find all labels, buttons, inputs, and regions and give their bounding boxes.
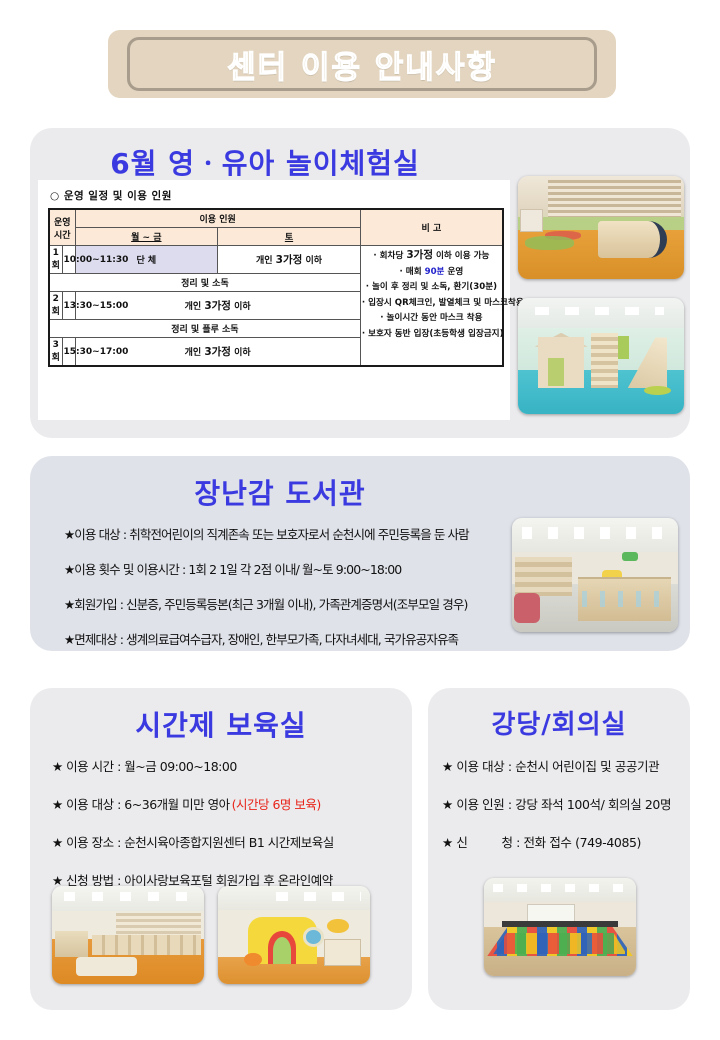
photo-region-cabinet xyxy=(55,931,88,956)
th-weekday: 월 ~ 금 xyxy=(75,228,218,246)
th-operating-time: 운영 시간 xyxy=(49,209,75,246)
photo-daycare-playhouse xyxy=(218,886,370,984)
note-post-0: 이하 이용 가능 xyxy=(433,251,489,261)
photo-content xyxy=(218,886,370,984)
session-time-1: 10:00~11:30 xyxy=(62,246,75,274)
photo-region-ceiling-lights xyxy=(64,892,192,901)
session-label-2: 2회 xyxy=(49,292,62,320)
photo-region-ceiling-lights xyxy=(276,892,361,901)
photo-region-crib xyxy=(324,939,360,966)
photo-content xyxy=(484,878,636,976)
cap-prefix-3: 개인 xyxy=(185,348,202,358)
session-label-1: 1회 xyxy=(49,246,62,274)
playroom-heading: 6월 영ㆍ유아 놀이체험실 xyxy=(30,142,500,182)
list-item-highlight: (시간당 6명 보육) xyxy=(232,794,321,813)
photo-region-wall-toy xyxy=(327,919,348,933)
photo-region-blue-porthole xyxy=(303,927,324,947)
photo-region-ceiling-lights xyxy=(522,527,665,538)
photo-region-blinds xyxy=(548,180,681,217)
photo-region-projection-screen xyxy=(527,904,576,922)
list-item-text: ★ 이용 대상 : 6~36개월 미만 영아 xyxy=(52,794,230,813)
photo-region-play-mat-green xyxy=(525,236,575,250)
session-time-3: 15:30~17:00 xyxy=(62,338,75,367)
photo-region-sign xyxy=(622,552,639,561)
list-item: ★회원가입 : 신분증, 주민등록등본(최근 3개월 이내), 가족관계증명서(… xyxy=(64,594,534,613)
photo-region-play-tunnel xyxy=(598,221,668,258)
photo-region-shelf xyxy=(520,209,543,232)
photo-toy-library-interior xyxy=(512,518,678,632)
note-pre-1: · 매회 xyxy=(400,267,425,277)
note-line: · 회차당 3가정 이하 이용 가능 xyxy=(362,248,501,265)
photo-region-rug xyxy=(76,957,137,977)
photo-region-ceiling-lights xyxy=(493,884,627,892)
hall-heading: 강당/회의실 xyxy=(428,704,690,741)
cap-em-3: 3가정 xyxy=(204,346,231,358)
th-capacity: 이용 인원 xyxy=(75,209,360,228)
photo-region-house-door xyxy=(548,358,565,386)
photo-region-low-shelves xyxy=(92,935,201,955)
playroom-schedule-panel: ○ 운영 일정 및 이용 인원 운영 시간 이용 인원 비 고 월 ~ 금 토 … xyxy=(38,180,510,420)
note-line: · 매회 90분 운영 xyxy=(362,265,501,281)
break-row-1: 정리 및 소독 xyxy=(49,274,360,292)
cap-suffix-3: 이하 xyxy=(234,348,251,358)
list-item: ★면제대상 : 생계의료급여수급자, 장애인, 한부모가족, 다자녀세대, 국가… xyxy=(64,629,534,648)
list-item: ★이용 대상 : 취학전어린이의 직계존속 또는 보호자로서 순천시에 주민등록… xyxy=(64,524,534,543)
cap-em-2: 3가정 xyxy=(204,300,231,312)
photo-content xyxy=(518,298,684,414)
list-item: ★ 이용 대상 : 6~36개월 미만 영아 (시간당 6명 보육) xyxy=(52,794,402,813)
photo-playroom-playhouse xyxy=(518,298,684,414)
poster-page: 센터 이용 안내사항 6월 영ㆍ유아 놀이체험실 ○ 운영 일정 및 이용 인원… xyxy=(0,0,720,1040)
photo-auditorium xyxy=(484,878,636,976)
photo-region-counter-decals xyxy=(582,591,668,607)
photo-region-red-seat xyxy=(514,593,541,623)
note-line: · 입장시 QR체크인, 발열체크 및 마스크착용 xyxy=(362,296,501,312)
note-line: · 놀이시간 동안 마스크 착용 xyxy=(362,311,501,327)
list-item: ★이용 횟수 및 이용시간 : 1회 2 1일 각 2점 이내/ 월~토 9:0… xyxy=(64,559,534,578)
session-time-2: 13:30~15:00 xyxy=(62,292,75,320)
photo-region-arch-interior xyxy=(273,937,291,964)
title-banner-inner-border: 센터 이용 안내사항 xyxy=(127,37,597,91)
note-em-0: 3가정 xyxy=(406,249,433,261)
photo-region-window-blinds xyxy=(116,913,201,935)
session-label-3: 3회 xyxy=(49,338,62,367)
photo-region-toy-shelves xyxy=(515,557,571,596)
session-saturday-1: 개인 3가정 이하 xyxy=(218,246,361,274)
sat-em-1: 3가정 xyxy=(276,254,303,266)
poster-title-banner: 센터 이용 안내사항 xyxy=(108,30,616,98)
cap-suffix-2: 이하 xyxy=(234,302,251,312)
photo-playroom-tunnel xyxy=(518,176,684,279)
photo-region-chair-rows-front xyxy=(493,933,627,955)
photo-daycare-classroom xyxy=(52,886,204,984)
note-line: · 놀이 후 정리 및 소독, 환기(30분) xyxy=(362,280,501,296)
notes-cell: · 회차당 3가정 이하 이용 가능 · 매회 90분 운영 · 놀이 후 정리… xyxy=(360,246,503,367)
list-item: ★ 이용 시간 : 월~금 09:00~18:00 xyxy=(52,756,402,775)
sat-prefix-1: 개인 xyxy=(256,256,273,266)
cap-prefix-2: 개인 xyxy=(185,302,202,312)
hourly-daycare-heading: 시간제 보육실 xyxy=(30,704,412,744)
playroom-schedule-table: 운영 시간 이용 인원 비 고 월 ~ 금 토 1회 10:00~11:30 단… xyxy=(48,208,504,367)
table-row: 1회 10:00~11:30 단 체 개인 3가정 이하 · 회차당 3가정 이… xyxy=(49,246,503,274)
note-pre-0: · 회차당 xyxy=(373,251,406,261)
th-saturday: 토 xyxy=(218,228,361,246)
note-line: · 보호자 동반 입장(초등학생 입장금지) xyxy=(362,327,501,343)
list-item-label: ★ 신 xyxy=(442,832,467,851)
toy-library-bullet-list: ★이용 대상 : 취학전어린이의 직계존속 또는 보호자로서 순천시에 주민등록… xyxy=(64,524,534,664)
table-header-row-1: 운영 시간 이용 인원 비 고 xyxy=(49,209,503,228)
th-notes: 비 고 xyxy=(360,209,503,246)
list-item: ★ 이용 대상 : 순천시 어린이집 및 공공기관 xyxy=(442,756,692,775)
note-post-1: 운영 xyxy=(444,267,463,277)
toy-library-heading: 장난감 도서관 xyxy=(30,472,530,512)
photo-content xyxy=(512,518,678,632)
photo-region-climbing-structure xyxy=(591,333,618,389)
list-item: ★ 신청 : 전화 접수 (749-4085) xyxy=(442,832,692,851)
hall-bullet-list: ★ 이용 대상 : 순천시 어린이집 및 공공기관 ★ 이용 인원 : 강당 좌… xyxy=(442,756,692,870)
sat-suffix-1: 이하 xyxy=(305,256,322,266)
page-title: 센터 이용 안내사항 xyxy=(227,42,497,87)
note-blue-1: 90분 xyxy=(425,267,445,277)
photo-content xyxy=(518,176,684,279)
photo-region-ceiling-lights xyxy=(535,307,664,315)
schedule-panel-caption: ○ 운영 일정 및 이용 인원 xyxy=(50,188,502,203)
break-row-2: 정리 및 플루 소독 xyxy=(49,320,360,338)
list-item: ★ 이용 장소 : 순천시육아종합지원센터 B1 시간제보육실 xyxy=(52,832,402,851)
list-item: ★ 이용 인원 : 강당 좌석 100석/ 회의실 20명 xyxy=(442,794,692,813)
photo-content xyxy=(52,886,204,984)
list-item-text: 청 : 전화 접수 (749-4085) xyxy=(501,832,641,851)
